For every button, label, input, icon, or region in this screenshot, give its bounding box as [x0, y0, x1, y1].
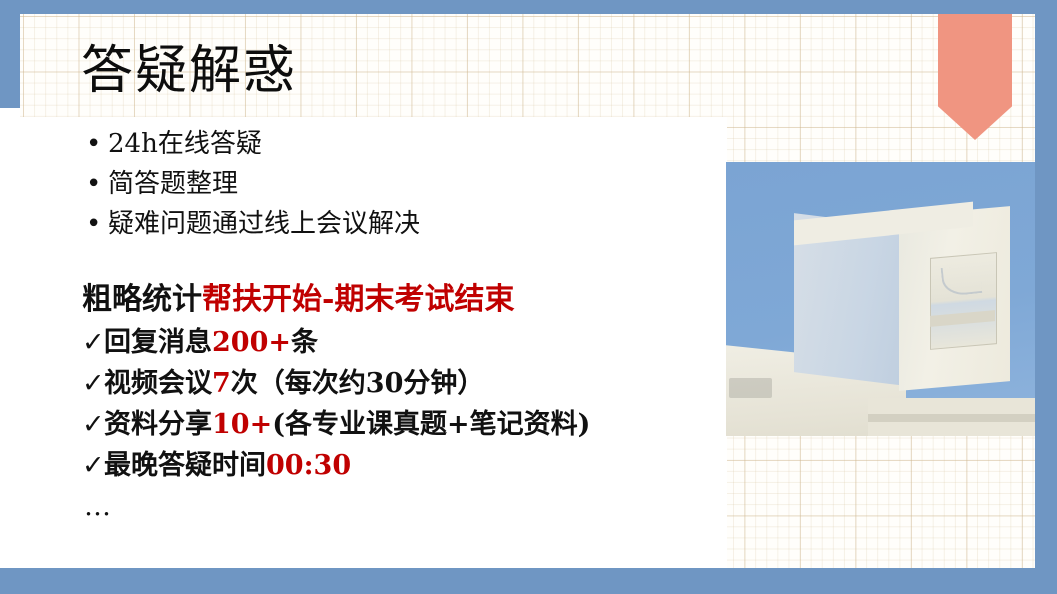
stat-tail: 次（每次约30分钟） [231, 368, 485, 399]
bullet-text: 24h在线答疑 [108, 129, 262, 159]
stat-value: 00:30 [266, 450, 351, 481]
stat-value: 200+ [212, 327, 291, 358]
stat-label: 最晚答疑时间 [104, 450, 266, 481]
check-icon: ✓ [82, 363, 104, 404]
stat-item: ✓资料分享10+(各专业课真题+笔记资料) [82, 404, 702, 445]
stat-tail: 条 [291, 327, 318, 358]
bullet-marker: • [86, 204, 108, 244]
ellipsis-text: … [82, 486, 702, 527]
bullet-marker: • [86, 164, 108, 204]
frame-bar-top [0, 0, 1057, 14]
stat-label: 资料分享 [104, 409, 212, 440]
frame-bar-bottom [0, 568, 1057, 594]
statistics-heading-prefix: 粗略统计 [82, 282, 202, 317]
photo-wall-smudge [729, 378, 772, 397]
slide-canvas: 答疑解惑 •24h在线答疑 •简答题整理 •疑难问题通过线上会议解决 粗略统计帮… [0, 0, 1057, 594]
list-item: •疑难问题通过线上会议解决 [86, 204, 686, 244]
frame-bar-left [0, 0, 20, 108]
stat-item: ✓视频会议7次（每次约30分钟） [82, 363, 702, 404]
frame-bar-right [1035, 0, 1057, 594]
check-icon: ✓ [82, 322, 104, 363]
check-icon: ✓ [82, 404, 104, 445]
stat-value: 7 [212, 368, 231, 399]
bullet-text: 简答题整理 [108, 169, 238, 199]
stat-item: ✓回复消息200+条 [82, 322, 702, 363]
bullet-list: •24h在线答疑 •简答题整理 •疑难问题通过线上会议解决 [86, 124, 686, 244]
stat-value: 10+ [212, 409, 272, 440]
statistics-heading: 粗略统计帮扶开始-期末考试结束 [82, 278, 702, 322]
photo-lower-band-shadow [868, 414, 1035, 422]
stat-tail: (各专业课真题+笔记资料) [272, 409, 590, 440]
list-item: •24h在线答疑 [86, 124, 686, 164]
stat-item: ✓最晚答疑时间00:30 [82, 445, 702, 486]
bullet-text: 疑难问题通过线上会议解决 [108, 209, 420, 239]
page-title: 答疑解惑 [81, 43, 297, 99]
stat-label: 视频会议 [104, 368, 212, 399]
building-photo [726, 162, 1035, 436]
list-item: •简答题整理 [86, 164, 686, 204]
bullet-marker: • [86, 124, 108, 164]
statistics-heading-highlight: 帮扶开始-期末考试结束 [202, 282, 514, 317]
statistics-block: 粗略统计帮扶开始-期末考试结束 ✓回复消息200+条 ✓视频会议7次（每次约30… [82, 278, 702, 527]
check-icon: ✓ [82, 445, 104, 486]
stat-label: 回复消息 [104, 327, 212, 358]
